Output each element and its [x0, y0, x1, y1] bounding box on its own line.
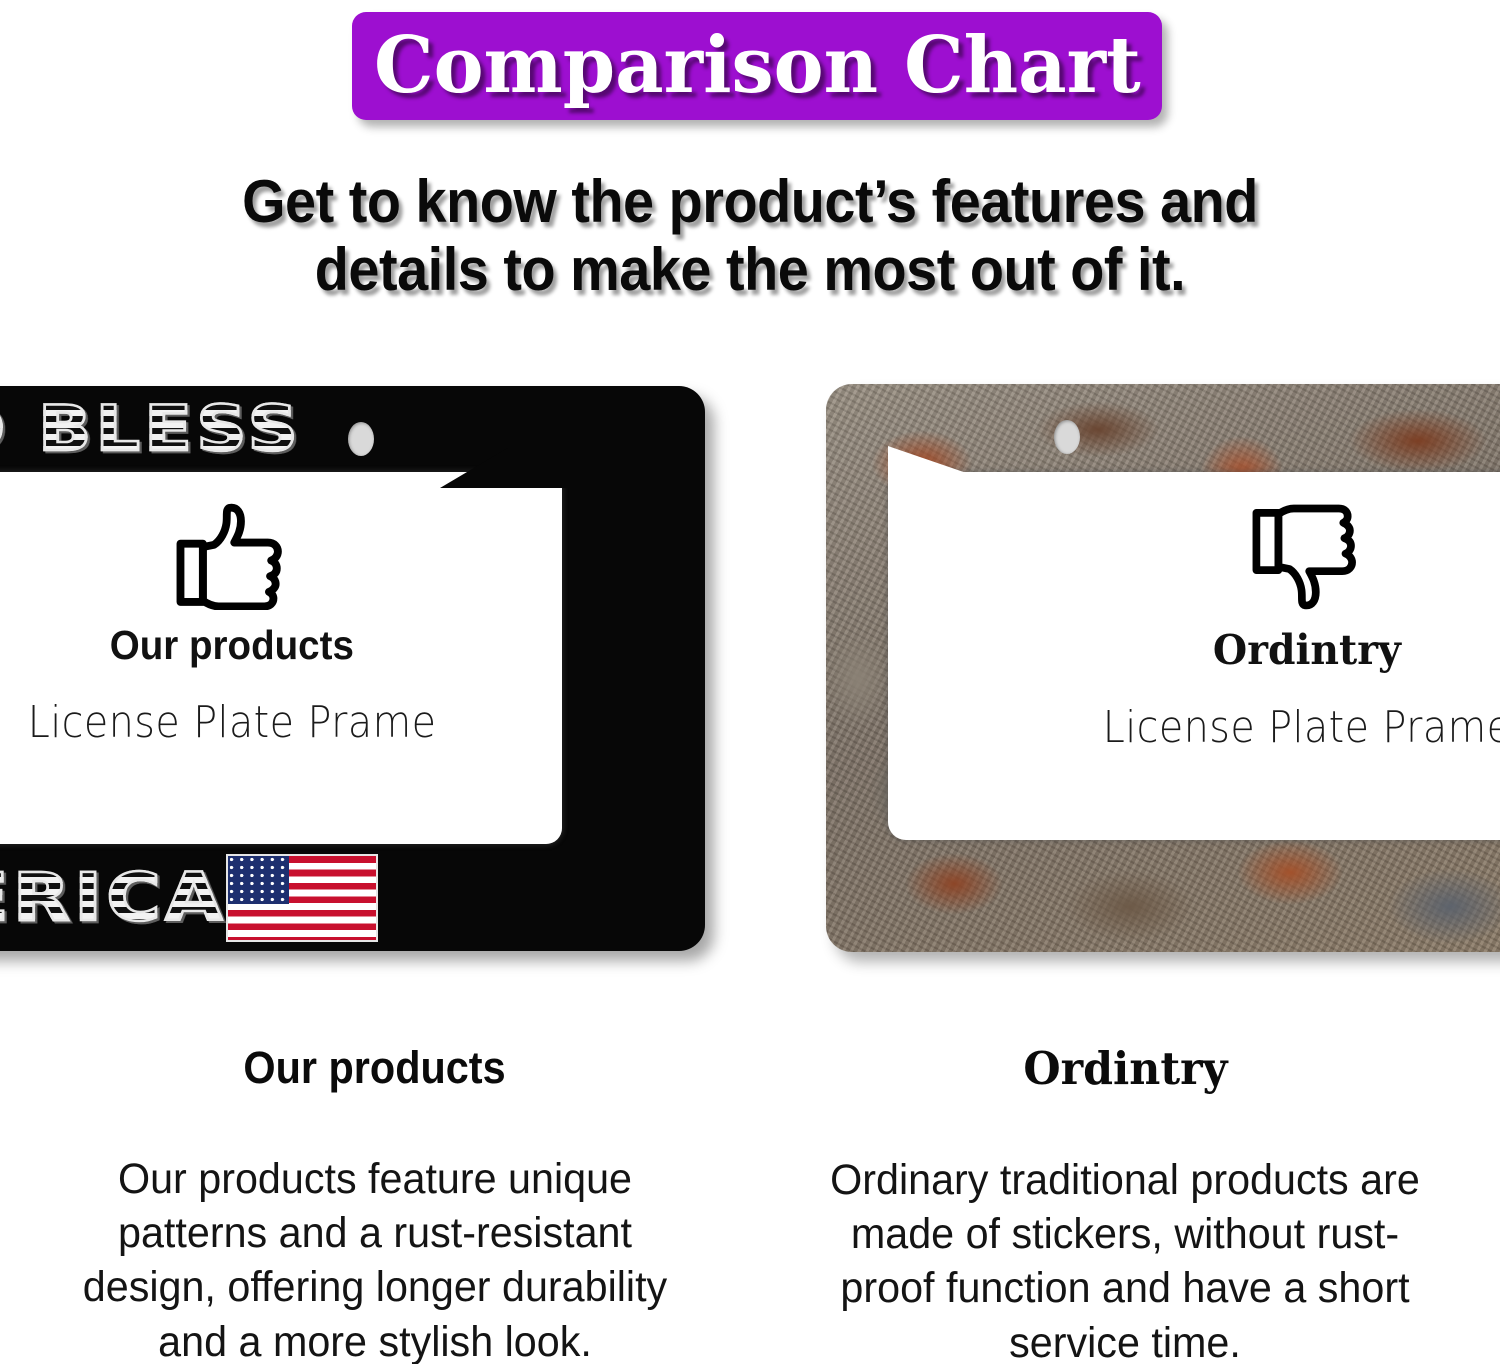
left-license-plate-frame: OD BLESS Our products License Plate Pram…	[0, 386, 705, 951]
comparison-description-columns: Our products Our products feature unique…	[0, 1026, 1500, 1364]
left-frame-window: Our products License Plate Prame	[0, 472, 562, 844]
thumbs-down-icon	[1252, 502, 1362, 614]
left-column-heading: Our products	[244, 1042, 506, 1094]
right-license-plate-frame: Ordintry License Plate Prame	[826, 384, 1500, 952]
right-inner-subtitle: License Plate Prame	[1103, 702, 1500, 753]
subtitle-line-2: details to make the most out of it.	[53, 236, 1448, 304]
right-column-body: Ordinary traditional products are made o…	[808, 1153, 1442, 1364]
left-inner-title: Our products	[110, 622, 354, 669]
right-frame-window: Ordintry License Plate Prame	[888, 472, 1500, 840]
us-flag-icon	[226, 854, 378, 942]
america-text: MERICA	[0, 865, 227, 931]
comparison-chart-page: Comparison Chart Get to know the product…	[0, 0, 1500, 1364]
left-column-body: Our products feature unique patterns and…	[58, 1152, 692, 1364]
title-badge: Comparison Chart	[352, 12, 1162, 120]
right-column-heading: Ordintry	[1023, 1042, 1227, 1095]
subtitle: Get to know the product’s features and d…	[53, 168, 1448, 304]
subtitle-line-1: Get to know the product’s features and	[53, 168, 1448, 236]
god-bless-text: OD BLESS	[0, 398, 302, 460]
right-inner-title: Ordintry	[1213, 626, 1401, 674]
left-description-column: Our products Our products feature unique…	[0, 1026, 750, 1364]
left-frame-content: Our products License Plate Prame	[0, 472, 562, 844]
thumbs-up-icon	[176, 502, 288, 610]
flag-canton	[228, 856, 289, 904]
left-inner-subtitle: License Plate Prame	[28, 697, 437, 748]
screw-hole-icon	[348, 422, 374, 456]
page-title: Comparison Chart	[374, 27, 1141, 105]
left-frame-bottom-band: MERICA	[0, 844, 705, 951]
right-description-column: Ordintry Ordinary traditional products a…	[750, 1026, 1500, 1364]
frames-stage: OD BLESS Our products License Plate Pram…	[0, 362, 1500, 982]
screw-hole-icon	[1054, 420, 1080, 454]
right-frame-content: Ordintry License Plate Prame	[888, 472, 1500, 840]
